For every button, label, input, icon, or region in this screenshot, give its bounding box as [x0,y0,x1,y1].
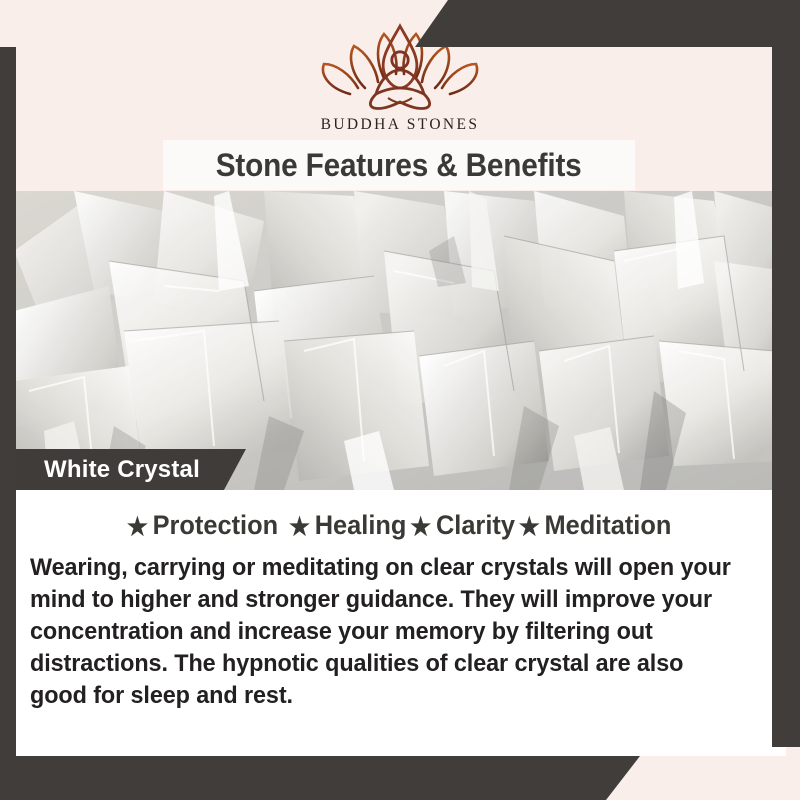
crystal-cluster-photo [14,191,786,490]
top-right-corner-decoration [415,0,800,47]
benefit-item-meditation: Meditation [544,510,671,541]
bottom-left-corner-decoration [0,756,640,800]
star-icon-1: ★ [127,512,148,542]
benefit-item-healing: Healing [315,510,407,541]
star-icon-4: ★ [519,512,540,542]
hero-image [14,191,786,490]
benefits-list: ★Protection ★Healing★Clarity★Meditation [39,510,763,542]
benefit-item-protection: Protection [153,510,279,541]
stone-name-label: White Crystal [44,456,200,484]
stone-name-tag: White Crystal [14,449,246,490]
page-title: Stone Features & Benefits [216,147,582,184]
infographic-page: BUDDHA STONES Stone Features & Benefits [0,0,800,800]
benefit-item-clarity: Clarity [436,510,515,541]
star-icon-2: ★ [289,512,310,542]
description-text: Wearing, carrying or meditating on clear… [30,552,741,712]
left-edge-decoration [0,47,16,800]
right-edge-decoration [772,47,800,747]
brand-name: BUDDHA STONES [0,116,800,134]
title-banner: Stone Features & Benefits [163,140,635,190]
star-icon-3: ★ [410,512,431,542]
content-panel: ★Protection ★Healing★Clarity★Meditation … [16,490,786,756]
